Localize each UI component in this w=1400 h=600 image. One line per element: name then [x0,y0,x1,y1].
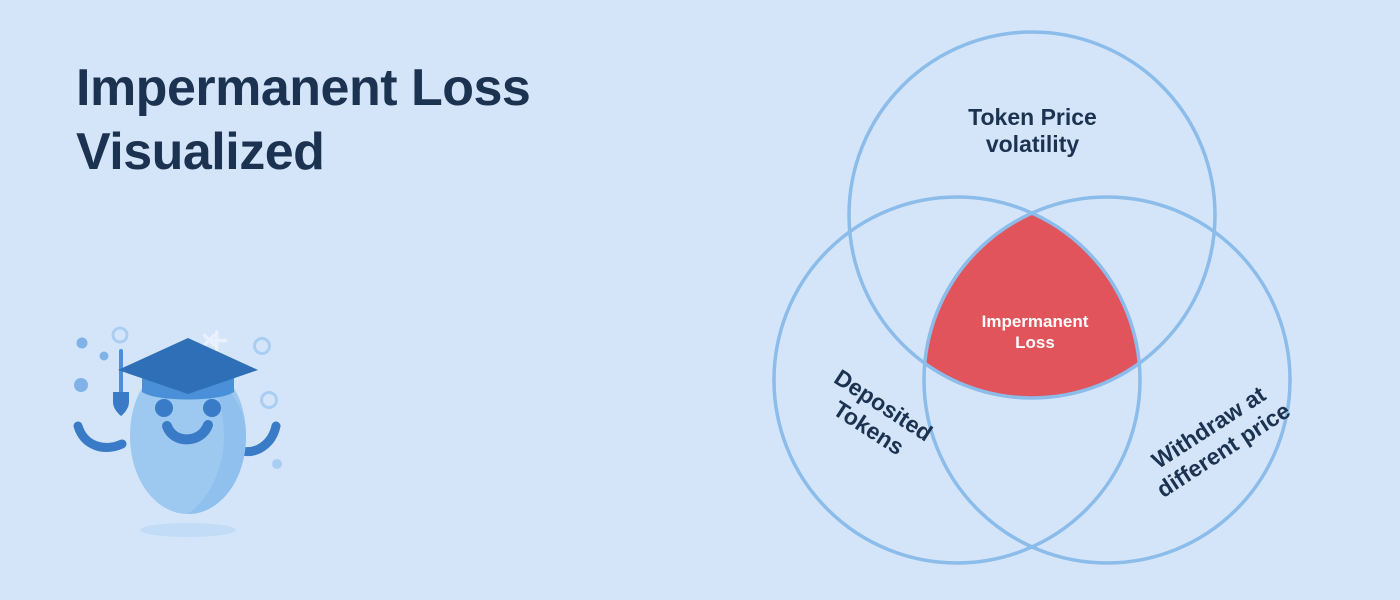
decor-ring-icon [262,393,277,408]
venn-intersection-region [740,0,1360,600]
mascot-tassel [113,392,129,416]
mascot-left-eye [155,399,173,417]
mascot-right-eye [203,399,221,417]
decor-dot-icon [74,378,88,392]
page-title: Impermanent Loss Visualized [76,56,696,184]
decor-dot-icon [77,338,88,349]
decor-dot-icon [272,459,282,469]
page-title-line-2: Visualized [76,120,696,184]
infographic-canvas: Impermanent Loss Visualized [0,0,1400,600]
mascot-left-arm [78,426,122,447]
mascot-cap-top [118,338,258,394]
decor-ring-icon [113,328,127,342]
decor-dot-icon [100,352,109,361]
venn-label-impermanent-loss: Impermanent Loss [955,312,1115,353]
mascot-shadow [140,523,236,537]
page-title-line-1: Impermanent Loss [76,56,696,120]
mascot-illustration [60,318,310,553]
venn-label-token-price-volatility: Token Price volatility [930,104,1135,157]
venn-diagram [740,0,1360,600]
decor-ring-icon [255,339,270,354]
